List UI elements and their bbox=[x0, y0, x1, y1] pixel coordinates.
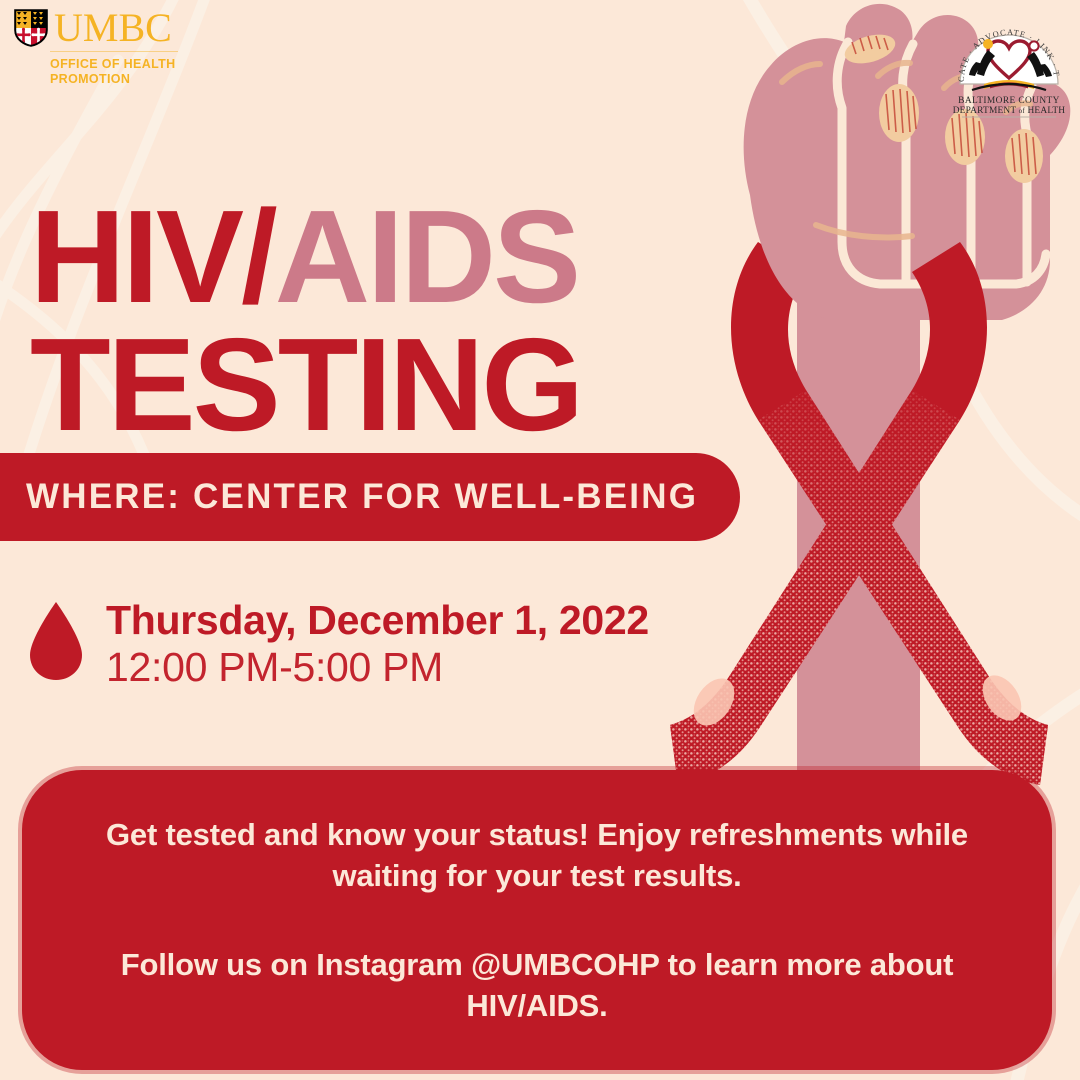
umbc-maryland-shield-icon bbox=[14, 9, 48, 47]
umbc-office-name: OFFICE OF HEALTH PROMOTION bbox=[50, 57, 244, 86]
message-box: Get tested and know your status! Enjoy r… bbox=[22, 770, 1052, 1070]
title-part-hiv: HIV/ bbox=[30, 183, 275, 330]
raised-fist-and-ribbon-icon bbox=[630, 0, 1080, 800]
where-banner: WHERE: CENTER FOR WELL-BEING bbox=[0, 453, 740, 541]
message-paragraph-1: Get tested and know your status! Enjoy r… bbox=[70, 814, 1005, 896]
where-label: WHERE: CENTER FOR WELL-BEING bbox=[26, 477, 698, 517]
umbc-divider bbox=[50, 51, 178, 52]
title-line-testing: TESTING bbox=[30, 321, 690, 449]
page-title: HIV/AIDS TESTING bbox=[30, 193, 690, 449]
umbc-office-line1: OFFICE OF HEALTH bbox=[50, 57, 244, 72]
heart-figures-emblem-icon: EDUCATE · ADVOCATE · LINK · TREAT BALTIM… bbox=[946, 6, 1072, 118]
poster-canvas: UMBC OFFICE OF HEALTH PROMOTION EDUCATE … bbox=[0, 0, 1080, 1080]
umbc-logo: UMBC OFFICE OF HEALTH PROMOTION bbox=[14, 8, 244, 86]
hero-illustration bbox=[630, 0, 1080, 800]
title-part-aids: AIDS bbox=[275, 183, 578, 330]
umbc-office-line2: PROMOTION bbox=[50, 72, 244, 87]
blood-drop-icon bbox=[28, 600, 84, 682]
event-time: 12:00 PM-5:00 PM bbox=[106, 643, 649, 691]
svg-text:DEPARTMENT of HEALTH: DEPARTMENT of HEALTH bbox=[953, 106, 1066, 116]
event-date: Thursday, December 1, 2022 bbox=[106, 598, 649, 643]
message-paragraph-2: Follow us on Instagram @UMBCOHP to learn… bbox=[70, 944, 1005, 1026]
svg-text:BALTIMORE COUNTY: BALTIMORE COUNTY bbox=[958, 96, 1060, 106]
event-datetime: Thursday, December 1, 2022 12:00 PM-5:00… bbox=[28, 598, 649, 691]
umbc-wordmark: UMBC bbox=[54, 8, 172, 48]
baltimore-county-health-logo: EDUCATE · ADVOCATE · LINK · TREAT BALTIM… bbox=[946, 6, 1072, 118]
